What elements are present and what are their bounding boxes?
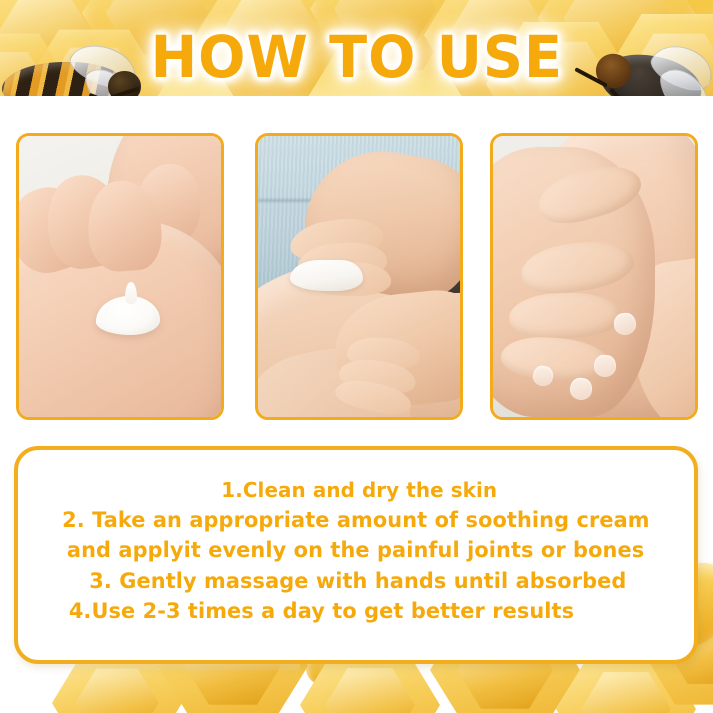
cream-smear (290, 260, 363, 291)
photo-panel-applying-to-knee (255, 133, 463, 420)
photo-applying-to-knee (258, 136, 460, 417)
instruction-step-4: 4.Use 2-3 times a day to get better resu… (68, 597, 573, 628)
instruction-step-2-cont: and applyit evenly on the painful joints… (67, 536, 644, 567)
photo-panel-massaging-knee (490, 133, 698, 420)
photo-massaging-knee (493, 136, 695, 417)
instruction-step-2: 2. Take an appropriate amount of soothin… (62, 506, 650, 537)
photo-panel-row (0, 133, 713, 420)
photo-cream-on-palm (19, 136, 221, 417)
photo-panel-cream-on-palm (16, 133, 224, 420)
page-title: HOW TO USE (133, 22, 580, 96)
instruction-step-1: 1.Clean and dry the skin (221, 476, 497, 505)
instructions-box: 1.Clean and dry the skin 2. Take an appr… (14, 446, 698, 664)
cream-dollop (96, 296, 161, 335)
how-to-use-poster: HOW TO USE (0, 0, 713, 713)
instruction-step-3: 3. Gently massage with hands until absor… (89, 567, 626, 598)
page-title-container: HOW TO USE (0, 22, 713, 96)
